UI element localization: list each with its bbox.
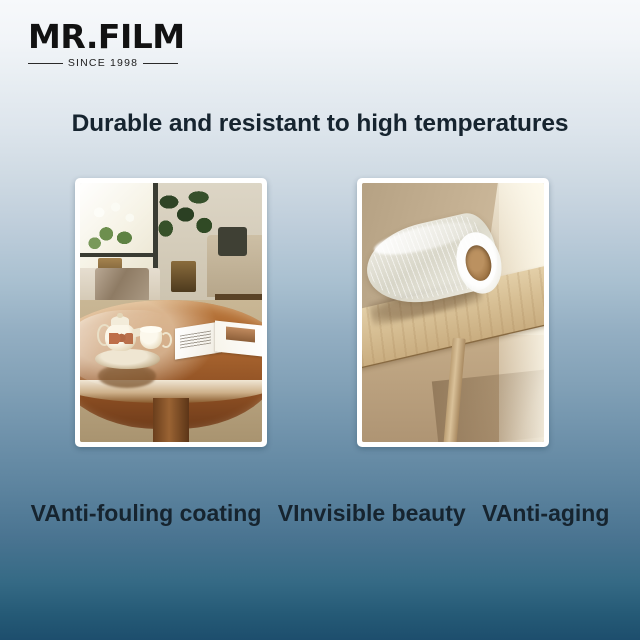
flowering-plant xyxy=(87,199,142,266)
teapot-lid xyxy=(111,316,129,325)
palm-pot xyxy=(171,261,196,292)
headline-text: Durable and resistant to high temperatur… xyxy=(0,110,640,138)
tagline-rule-right xyxy=(143,63,178,64)
promo-poster: MR.FILM SINCE 1998 Durable and resistant… xyxy=(0,0,640,640)
teapot-floral-pattern xyxy=(109,333,133,343)
brand-tagline-row: SINCE 1998 xyxy=(28,57,178,69)
photo-film-roll-image xyxy=(362,183,544,442)
teapot-knob xyxy=(117,313,122,318)
brand-logo: MR.FILM SINCE 1998 xyxy=(28,20,188,76)
teacup-rim xyxy=(140,326,162,332)
table-pedestal xyxy=(153,398,189,442)
tagline-rule-left xyxy=(28,63,63,64)
photo-film-roll xyxy=(357,178,549,447)
brand-name: MR.FILM xyxy=(28,20,188,54)
sofa-cushion xyxy=(218,227,247,255)
teacup-handle xyxy=(160,332,172,348)
feature-item-anti-aging: VAnti-aging xyxy=(482,500,609,526)
feature-item-invisible-beauty: VInvisible beauty xyxy=(278,500,466,526)
feature-item-anti-fouling: VAnti-fouling coating xyxy=(31,500,262,526)
throw-blanket xyxy=(95,268,150,302)
brand-tagline: SINCE 1998 xyxy=(68,57,138,69)
feature-list: VAnti-fouling coating VInvisible beauty … xyxy=(0,500,640,527)
photo-living-room-table xyxy=(75,178,267,447)
photo-living-room-table-image xyxy=(80,183,262,442)
palm-plant xyxy=(158,188,213,266)
